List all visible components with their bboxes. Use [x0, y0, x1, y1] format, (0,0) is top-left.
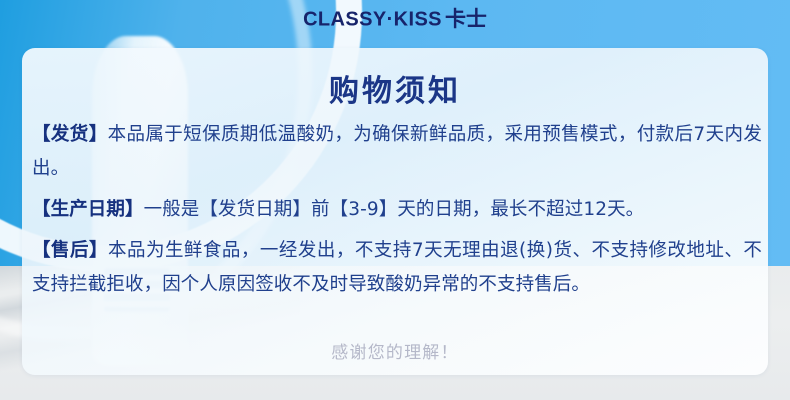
notice-item-shipping: 【发货】本品属于短保质期低温酸奶，为确保新鲜品质，采用预售模式，付款后7天内发出…	[32, 118, 762, 186]
notice-tag-after-sales: 【售后】	[32, 240, 108, 261]
notice-item-production-date: 【生产日期】一般是【发货日期】前【3-9】天的日期，最长不超过12天。	[32, 193, 762, 227]
notice-item-after-sales: 【售后】本品为生鲜食品，一经发出，不支持7天无理由退(换)货、不支持修改地址、不…	[32, 234, 762, 302]
brand-logo-en: CLASSY·KISS	[303, 9, 442, 31]
notice-tag-production-date: 【生产日期】	[32, 199, 144, 220]
notice-text-production-date: 一般是【发货日期】前【3-9】天的日期，最长不超过12天。	[144, 199, 645, 220]
notice-tag-shipping: 【发货】	[32, 124, 108, 145]
brand-logo: CLASSY·KISS卡士	[0, 9, 790, 30]
brand-logo-cn: 卡士	[445, 7, 487, 31]
notice-text-shipping: 本品属于短保质期低温酸奶，为确保新鲜品质，采用预售模式，付款后7天内发出。	[32, 124, 762, 179]
page-title: 购物须知	[0, 66, 790, 110]
notice-text-after-sales: 本品为生鲜食品，一经发出，不支持7天无理由退(换)货、不支持修改地址、不支持拦截…	[32, 240, 762, 295]
promo-banner: CLASSY·KISS卡士 购物须知 【发货】本品属于短保质期低温酸奶，为确保新…	[0, 0, 790, 400]
thanks-footer: 感谢您的理解！	[0, 338, 790, 363]
notice-body: 【发货】本品属于短保质期低温酸奶，为确保新鲜品质，采用预售模式，付款后7天内发出…	[32, 118, 762, 302]
